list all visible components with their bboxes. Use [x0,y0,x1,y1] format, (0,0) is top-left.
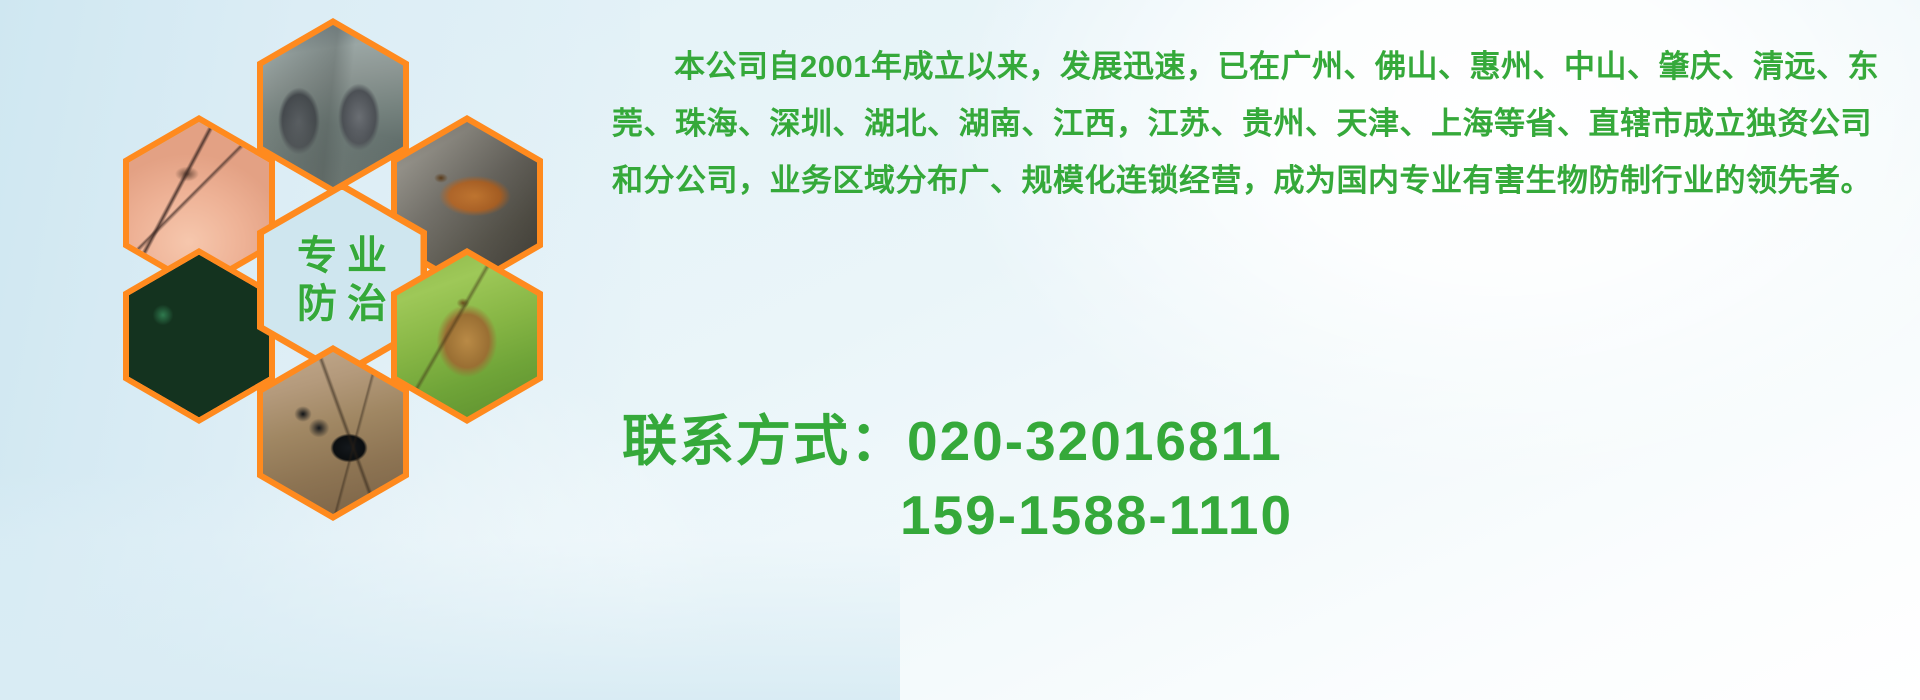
rats-image [263,25,403,187]
promo-banner: 专业 防治 本公司自2001年成立以来，发展迅速，已在广州、佛山、惠州、中山、肇… [0,0,1920,700]
hex-photo-rats [257,18,409,194]
hexagon-photo-cluster: 专业 防治 [105,10,585,570]
contact-block: 联系方式：020-32016811 159-1588-1110 [622,404,1622,552]
intro-paragraph: 本公司自2001年成立以来，发展迅速，已在广州、佛山、惠州、中山、肇庆、清远、东… [612,38,1902,209]
hex-photo-ant [257,345,409,521]
stinkbug-image [397,255,537,417]
contact-secondary-phone: 159-1588-1110 [622,478,1622,552]
hex-photo-flies [123,248,275,424]
flies-image [129,255,269,417]
hex-label-line-1: 专业 [287,235,397,277]
hex-label-line-2: 防治 [287,283,397,325]
ant-image [263,352,403,514]
intro-copy-block: 本公司自2001年成立以来，发展迅速，已在广州、佛山、惠州、中山、肇庆、清远、东… [612,38,1902,209]
contact-primary-phone: 联系方式：020-32016811 [622,404,1622,478]
